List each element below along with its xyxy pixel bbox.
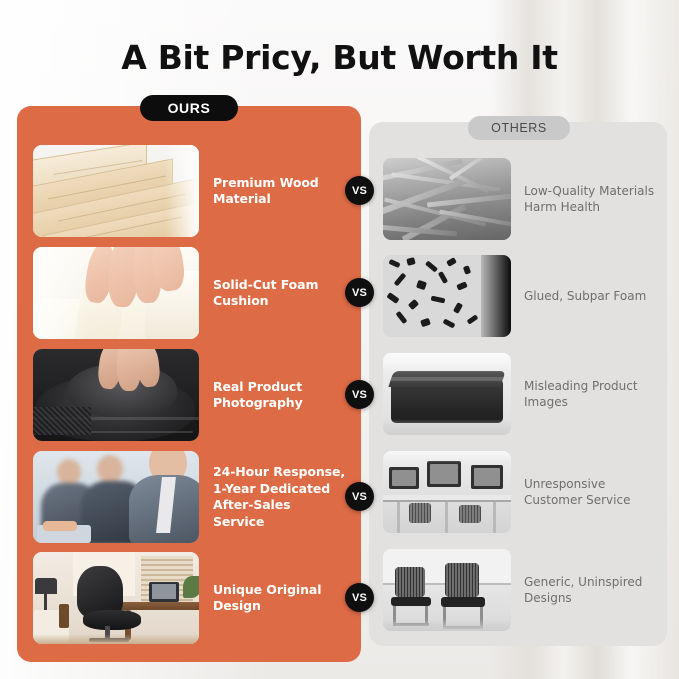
home-office-chair-image [33, 552, 199, 644]
others-row-5-label: Generic, Uninspired Designs [524, 574, 642, 606]
others-row-3: Misleading Product Images [383, 353, 661, 435]
ours-row-3: Real Product Photography [33, 349, 345, 441]
others-row-5-line-2: Designs [524, 590, 642, 606]
ours-row-5-line-2: Design [213, 598, 321, 615]
ours-row-4-line-3: After-Sales Service [213, 497, 345, 530]
ours-row-5: Unique Original Design [33, 552, 345, 644]
customer-service-agents-image [33, 451, 199, 543]
generic-mesh-chairs-image [383, 549, 511, 631]
others-row-1-line-1: Low-Quality Materials [524, 183, 654, 199]
vs-badge-3: VS [345, 380, 374, 409]
vs-badge-4: VS [345, 482, 374, 511]
ours-row-2-line-1: Solid-Cut Foam [213, 277, 318, 294]
others-row-5: Generic, Uninspired Designs [383, 549, 661, 631]
others-row-2: Glued, Subpar Foam [383, 255, 661, 337]
others-row-4-label: Unresponsive Customer Service [524, 476, 630, 508]
rebonded-foam-texture-image [383, 255, 511, 337]
ours-row-4-line-1: 24-Hour Response, [213, 464, 345, 481]
scrap-wood-debris-image [383, 158, 511, 240]
page-title: A Bit Pricy, But Worth It [0, 38, 679, 77]
others-row-5-line-1: Generic, Uninspired [524, 574, 642, 590]
ours-row-5-line-1: Unique Original [213, 582, 321, 599]
ours-row-2-label: Solid-Cut Foam Cushion [213, 277, 318, 310]
ours-row-2: Solid-Cut Foam Cushion [33, 247, 345, 339]
ours-row-1-line-2: Material [213, 191, 319, 208]
others-row-1-line-2: Harm Health [524, 199, 654, 215]
others-row-4: Unresponsive Customer Service [383, 451, 661, 533]
black-foam-slab-image [383, 353, 511, 435]
ours-row-4-label: 24-Hour Response, 1-Year Dedicated After… [213, 464, 345, 530]
ours-row-1-line-1: Premium Wood [213, 175, 319, 192]
vs-badge-1: VS [345, 176, 374, 205]
vs-badge-2: VS [345, 278, 374, 307]
ours-badge: OURS [140, 95, 238, 121]
ours-row-3-label: Real Product Photography [213, 379, 303, 412]
ours-row-3-line-1: Real Product [213, 379, 303, 396]
ours-row-5-label: Unique Original Design [213, 582, 321, 615]
ours-row-4-line-2: 1-Year Dedicated [213, 481, 345, 498]
others-row-4-line-2: Customer Service [524, 492, 630, 508]
comparison-infographic: A Bit Pricy, But Worth It OURS OTHERS Pr… [0, 0, 679, 679]
stacked-wood-planks-image [33, 145, 199, 237]
empty-office-desks-image [383, 451, 511, 533]
ours-row-3-line-2: Photography [213, 395, 303, 412]
others-row-3-line-1: Misleading Product [524, 378, 638, 394]
hand-pressing-leather-cushion-image [33, 349, 199, 441]
others-row-1-label: Low-Quality Materials Harm Health [524, 183, 654, 215]
ours-row-2-line-2: Cushion [213, 293, 318, 310]
others-row-2-line-1: Glued, Subpar Foam [524, 288, 646, 304]
others-row-3-label: Misleading Product Images [524, 378, 638, 410]
others-badge: OTHERS [468, 116, 570, 140]
others-row-1: Low-Quality Materials Harm Health [383, 158, 661, 240]
hand-pinching-foam-image [33, 247, 199, 339]
others-row-2-label: Glued, Subpar Foam [524, 288, 646, 304]
ours-row-1-label: Premium Wood Material [213, 175, 319, 208]
ours-row-1: Premium Wood Material [33, 145, 345, 237]
others-row-4-line-1: Unresponsive [524, 476, 630, 492]
vs-badge-5: VS [345, 583, 374, 612]
others-row-3-line-2: Images [524, 394, 638, 410]
ours-row-4: 24-Hour Response, 1-Year Dedicated After… [33, 451, 345, 543]
